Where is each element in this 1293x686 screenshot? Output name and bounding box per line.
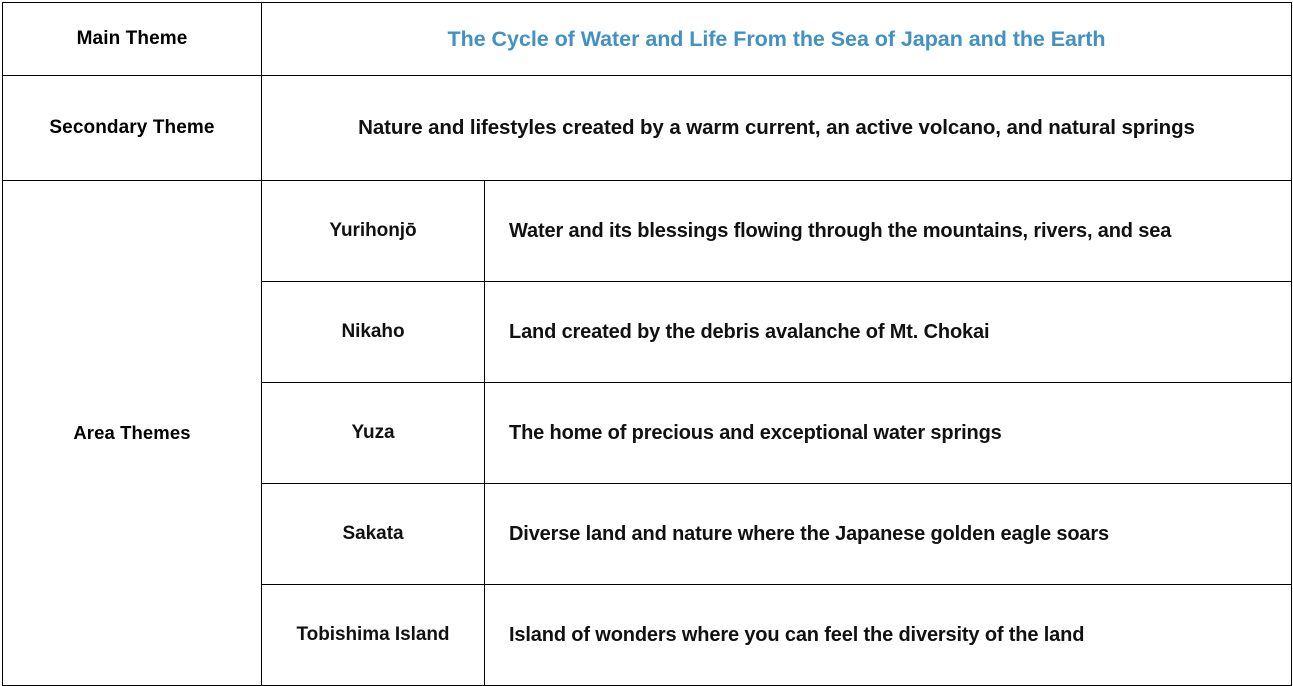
main-theme-label-cell: Main Theme — [3, 3, 262, 76]
area-name-cell-2: Yuza — [262, 383, 485, 484]
area-name-1: Nikaho — [262, 320, 484, 344]
secondary-theme-label-cell: Secondary Theme — [3, 76, 262, 181]
area-name-2: Yuza — [262, 421, 484, 445]
theme-table: Main Theme The Cycle of Water and Life F… — [2, 2, 1292, 686]
main-theme-label: Main Theme — [3, 27, 261, 51]
secondary-theme-value: Nature and lifestyles created by a warm … — [262, 115, 1291, 142]
area-name-cell-4: Tobishima Island — [262, 585, 485, 686]
table-row-secondary-theme: Secondary Theme Nature and lifestyles cr… — [3, 76, 1292, 181]
area-description-4: Island of wonders where you can feel the… — [485, 622, 1291, 648]
area-description-cell-4: Island of wonders where you can feel the… — [485, 585, 1292, 686]
area-themes-label: Area Themes — [3, 421, 261, 444]
table-row-main-theme: Main Theme The Cycle of Water and Life F… — [3, 3, 1292, 76]
main-theme-value: The Cycle of Water and Life From the Sea… — [262, 26, 1291, 53]
area-name-4: Tobishima Island — [262, 623, 484, 647]
area-name-cell-1: Nikaho — [262, 282, 485, 383]
area-description-cell-0: Water and its blessings flowing through … — [485, 181, 1292, 282]
table-row-area-0: Area Themes Yurihonjō Water and its bles… — [3, 181, 1292, 282]
secondary-theme-label: Secondary Theme — [3, 116, 261, 140]
area-name-cell-0: Yurihonjō — [262, 181, 485, 282]
area-description-3: Diverse land and nature where the Japane… — [485, 521, 1291, 547]
area-name-3: Sakata — [262, 522, 484, 546]
area-name-cell-3: Sakata — [262, 484, 485, 585]
area-description-0: Water and its blessings flowing through … — [485, 218, 1291, 244]
main-theme-value-cell: The Cycle of Water and Life From the Sea… — [262, 3, 1292, 76]
area-description-cell-1: Land created by the debris avalanche of … — [485, 282, 1292, 383]
area-themes-label-cell: Area Themes — [3, 181, 262, 686]
area-description-1: Land created by the debris avalanche of … — [485, 319, 1291, 345]
secondary-theme-value-cell: Nature and lifestyles created by a warm … — [262, 76, 1292, 181]
theme-table-container: Main Theme The Cycle of Water and Life F… — [0, 2, 1293, 683]
area-name-0: Yurihonjō — [262, 219, 484, 243]
area-description-cell-3: Diverse land and nature where the Japane… — [485, 484, 1292, 585]
area-description-2: The home of precious and exceptional wat… — [485, 420, 1291, 446]
area-description-cell-2: The home of precious and exceptional wat… — [485, 383, 1292, 484]
